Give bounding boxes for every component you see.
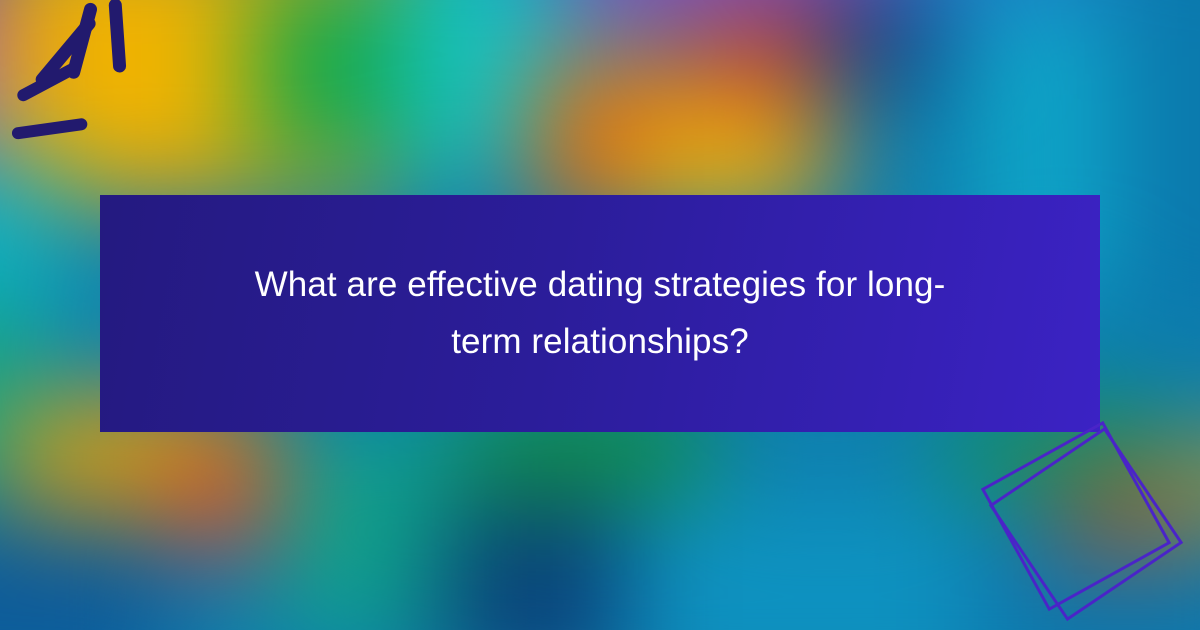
bg-blob-blue-bottom-left: [0, 513, 170, 630]
page-title: What are effective dating strategies for…: [250, 257, 950, 370]
bg-blob-cyan-bottom-mid: [627, 498, 976, 630]
decorative-square-2: [989, 427, 1183, 621]
bg-blob-navy-center: [815, 0, 936, 89]
headline-banner: What are effective dating strategies for…: [100, 195, 1100, 432]
bg-blob-magenta-lower: [183, 498, 264, 554]
bg-blob-darkblue-bottom: [439, 498, 654, 630]
bg-blob-blue-right-edge: [1111, 0, 1200, 343]
starburst-ray-1: [11, 117, 88, 139]
starburst-ray-5: [108, 0, 126, 73]
overlapping-squares-icon: [980, 420, 1200, 630]
starburst-icon: [0, 0, 190, 170]
social-card: What are effective dating strategies for…: [0, 0, 1200, 630]
